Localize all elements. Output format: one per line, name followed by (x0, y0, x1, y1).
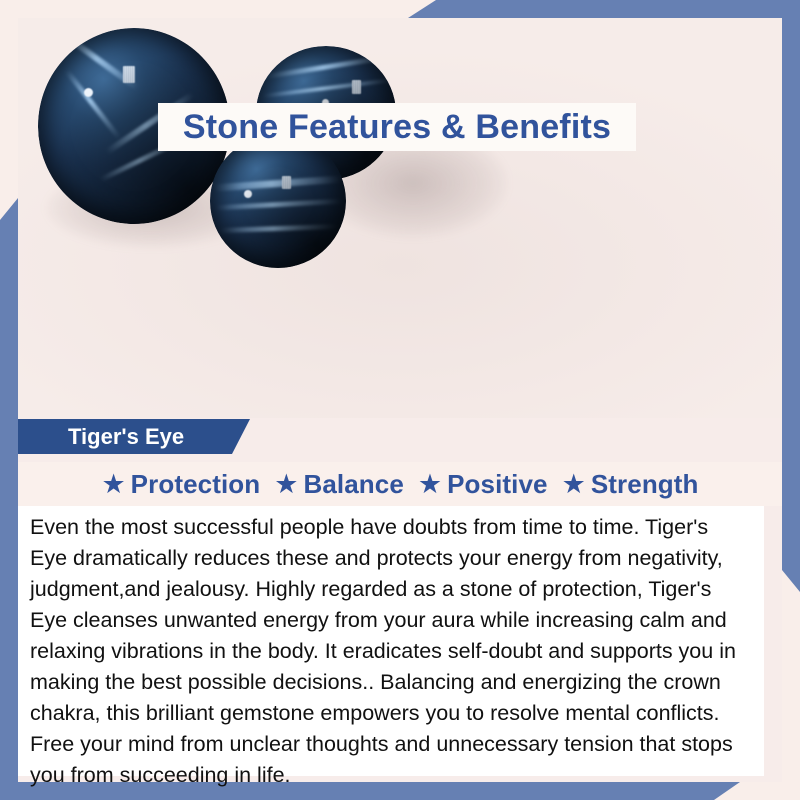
benefit-label: Positive (447, 469, 548, 500)
benefit-label: Strength (591, 469, 699, 500)
benefit-label: Balance (303, 469, 403, 500)
stone-description: Even the most successful people have dou… (18, 506, 764, 776)
star-icon: ★ (274, 471, 298, 498)
stone-name-banner: Tiger's Eye (18, 419, 250, 454)
frame-band-right (782, 0, 800, 592)
benefit-item: ★ Balance (274, 469, 416, 500)
star-icon: ★ (101, 471, 125, 498)
page-title: Stone Features & Benefits (158, 103, 636, 151)
benefit-item: ★ Positive (418, 469, 560, 500)
stone-name-label: Tiger's Eye (68, 424, 184, 450)
frame-band-top-right (408, 0, 800, 18)
benefit-item: ★ Strength (562, 469, 699, 500)
benefits-row: ★ Protection ★ Balance ★ Positive ★ Stre… (18, 462, 782, 506)
benefit-item: ★ Protection (101, 469, 272, 500)
star-icon: ★ (418, 471, 442, 498)
stone-photo (18, 18, 782, 418)
stone-sphere-front (210, 134, 346, 268)
benefit-label: Protection (131, 469, 261, 500)
sphere-rim (210, 134, 346, 268)
star-icon: ★ (562, 471, 586, 498)
frame-band-left (0, 198, 18, 800)
infographic-page: Stone Features & Benefits Tiger's Eye ★ … (0, 0, 800, 800)
